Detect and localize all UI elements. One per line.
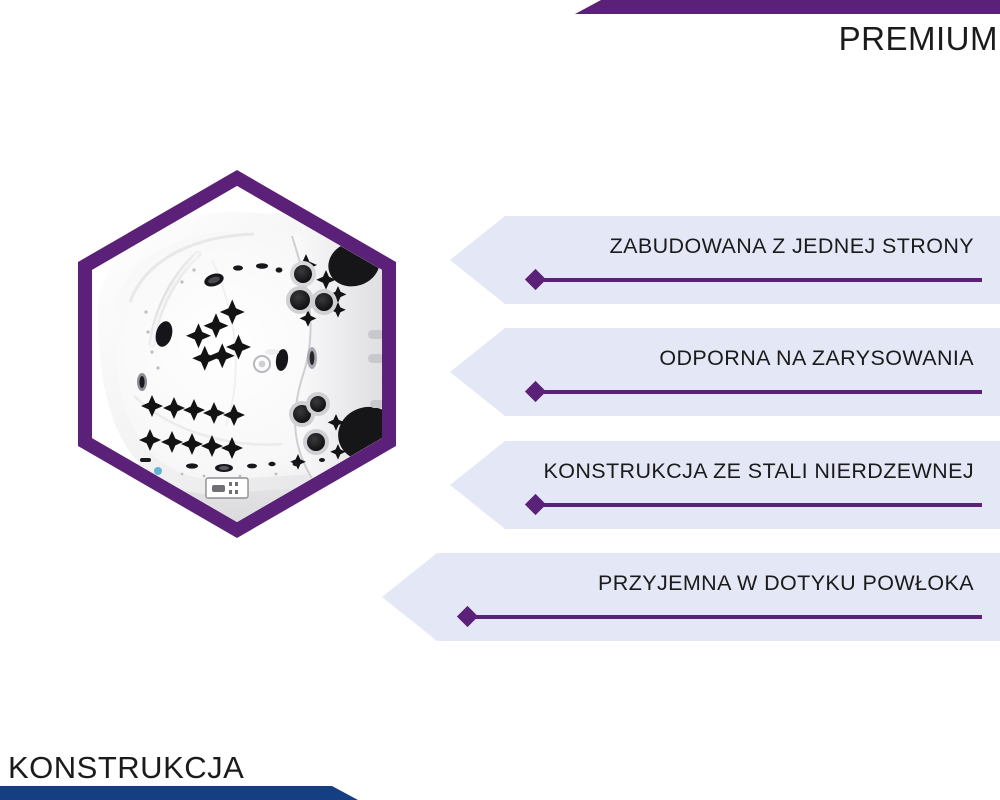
- feature-plate: [382, 553, 1000, 641]
- bottom-accent-banner: [0, 786, 358, 800]
- feature-label: ZABUDOWANA Z JEDNEJ STRONY: [610, 233, 974, 259]
- feature-row[interactable]: ZABUDOWANA Z JEDNEJ STRONY: [450, 216, 1000, 304]
- page-title: PREMIUM: [839, 19, 998, 59]
- feature-label: PRZYJEMNA W DOTYKU POWŁOKA: [598, 570, 974, 596]
- feature-row[interactable]: PRZYJEMNA W DOTYKU POWŁOKA: [382, 553, 1000, 641]
- feature-label: ODPORNA NA ZARYSOWANIA: [659, 345, 974, 371]
- section-caption: KONSTRUKCJA: [8, 750, 244, 786]
- feature-plate: [450, 216, 1000, 304]
- feature-underline: [468, 615, 982, 619]
- feature-plate: [450, 328, 1000, 416]
- feature-plate: [450, 441, 1000, 529]
- feature-underline: [536, 503, 982, 507]
- feature-row[interactable]: ODPORNA NA ZARYSOWANIA: [450, 328, 1000, 416]
- feature-label: KONSTRUKCJA ZE STALI NIERDZEWNEJ: [543, 458, 974, 484]
- top-accent-banner: [575, 0, 1000, 14]
- product-image-hexagon-frame: [78, 170, 396, 538]
- feature-row[interactable]: KONSTRUKCJA ZE STALI NIERDZEWNEJ: [450, 441, 1000, 529]
- feature-underline: [536, 390, 982, 394]
- feature-underline: [536, 278, 982, 282]
